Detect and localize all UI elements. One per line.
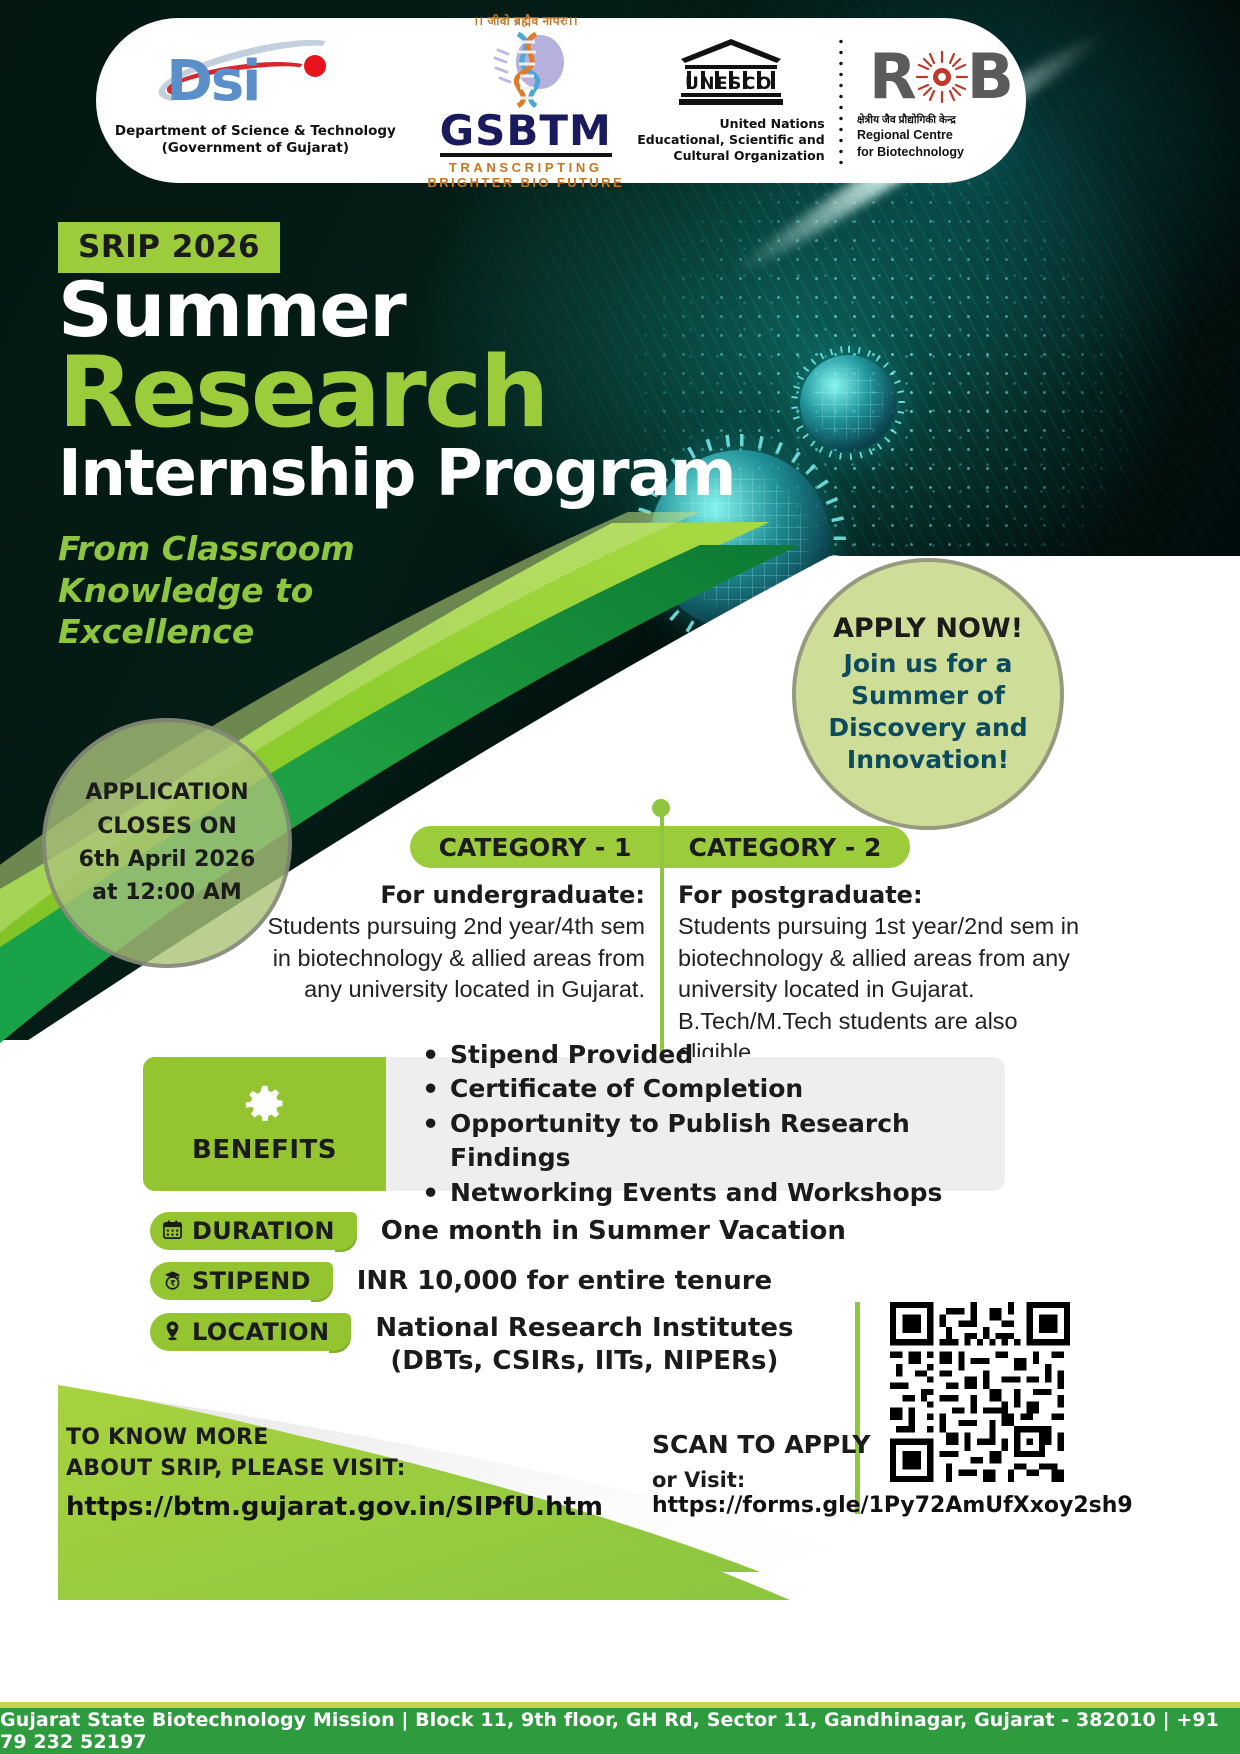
logo-rcb: R B क्षेत्रीय जैव <box>857 41 1026 160</box>
qr-divider <box>855 1302 860 1514</box>
location-label: LOCATION <box>192 1318 329 1346</box>
unesco-temple-icon: UNESCO <box>677 37 785 111</box>
rcb-line2: for Biotechnology <box>857 144 1026 160</box>
gsbtm-tagline-1: TRANSCRIPTING <box>449 160 603 175</box>
unesco-line3: Cultural Organization <box>637 148 824 164</box>
svg-text:₹: ₹ <box>170 1277 176 1287</box>
deadline-line4: at 12:00 AM <box>92 876 242 909</box>
deadline-line3: 6th April 2026 <box>79 843 256 876</box>
category-1-pill-label: CATEGORY - 1 <box>410 833 660 862</box>
benefit-item: Opportunity to Publish Research Findings <box>420 1107 1005 1176</box>
category-1-body: Students pursuing 2nd year/4th sem in bi… <box>245 911 645 1005</box>
benefits-label-panel: BENEFITS <box>143 1057 386 1191</box>
duration-value: One month in Summer Vacation <box>381 1215 846 1248</box>
duration-tag: DURATION <box>150 1212 341 1250</box>
logo-dst: Dsi Department of Science & Technology (… <box>96 45 415 157</box>
deadline-line1: APPLICATION <box>85 776 248 809</box>
rcb-emblem-icon: R B <box>869 41 1014 113</box>
benefits-label: BENEFITS <box>192 1135 337 1165</box>
hero-tagline: From Classroom Knowledge to Excellence <box>58 528 355 653</box>
location-value: National Research Institutes (DBTs, CSIR… <box>375 1312 793 1377</box>
category-1-heading: For undergraduate: <box>245 880 645 911</box>
rcb-line1: Regional Centre <box>857 127 1026 143</box>
apply-now-headline: APPLY NOW! <box>833 613 1023 644</box>
stipend-value: INR 10,000 for entire tenure <box>357 1265 772 1298</box>
apply-now-subline: Join us for a Summer of Discovery and In… <box>828 648 1027 776</box>
location-tag: LOCATION <box>150 1313 335 1351</box>
gsbtm-sanskrit-motto: ।। जीवो ब्रह्मैव नापरः।। <box>473 12 578 29</box>
srip-info-url[interactable]: https://btm.gujarat.gov.in/SIPfU.htm <box>66 1492 603 1522</box>
apply-form-url[interactable]: https://forms.gle/1Py72AmUfXxoy2sh9 <box>652 1493 1133 1518</box>
dna-helix-icon <box>478 30 574 108</box>
scan-to-apply-title: SCAN TO APPLY <box>652 1430 870 1459</box>
benefit-item: Networking Events and Workshops <box>420 1176 1005 1211</box>
category-connector-dot <box>652 799 670 817</box>
gsbtm-wordmark: GSBTM <box>440 110 612 157</box>
benefits-section: BENEFITS Stipend Provided Certificate of… <box>143 1057 1005 1191</box>
rupee-graduation-icon: ₹ <box>162 1269 183 1294</box>
stipend-tag: ₹ STIPEND <box>150 1262 317 1300</box>
benefits-list: Stipend Provided Certificate of Completi… <box>386 1057 1005 1191</box>
know-more-line2: ABOUT SRIP, PLEASE VISIT: <box>66 1456 406 1481</box>
calendar-icon <box>162 1219 183 1244</box>
dst-emblem-icon: Dsi <box>160 45 350 119</box>
gsbtm-tagline-2: BRIGHTER BIO FUTURE <box>427 175 624 190</box>
benefit-item: Stipend Provided <box>420 1038 1005 1073</box>
qr-code[interactable] <box>890 1302 1070 1482</box>
apply-now-callout: APPLY NOW! Join us for a Summer of Disco… <box>792 558 1064 830</box>
logo-divider <box>839 36 843 166</box>
rcb-hindi-name: क्षेत्रीय जैव प्रौद्योगिकी केन्द्र <box>857 113 1026 127</box>
application-deadline-callout: APPLICATION CLOSES ON 6th April 2026 at … <box>42 718 292 968</box>
gear-icon <box>244 1084 286 1133</box>
logo-unesco: UNESCO United Nations Educational, Scien… <box>637 37 825 165</box>
partner-logo-bar: Dsi Department of Science & Technology (… <box>96 18 1026 183</box>
duration-row: DURATION One month in Summer Vacation <box>150 1212 846 1250</box>
category-2-pill-label: CATEGORY - 2 <box>660 833 910 862</box>
unesco-line2: Educational, Scientific and <box>637 132 824 148</box>
dst-subtitle-line1: Department of Science & Technology <box>115 123 396 140</box>
duration-label: DURATION <box>192 1217 335 1245</box>
title-line-internship-program: Internship Program <box>58 442 735 506</box>
know-more-line1: TO KNOW MORE <box>66 1425 268 1450</box>
stipend-row: ₹ STIPEND INR 10,000 for entire tenure <box>150 1262 772 1300</box>
title-line-research: Research <box>58 344 547 442</box>
footer-contact-text: Gujarat State Biotechnology Mission | Bl… <box>0 1709 1240 1753</box>
poster-root: Dsi Department of Science & Technology (… <box>0 0 1240 1754</box>
unesco-line1: United Nations <box>637 116 824 132</box>
logo-gsbtm: ।। जीवो ब्रह्मैव नापरः।। GSBTM TRANSCRIP… <box>415 12 637 190</box>
category-1-block: For undergraduate: Students pursuing 2nd… <box>245 880 645 1006</box>
stipend-label: STIPEND <box>192 1267 311 1295</box>
category-divider-line <box>660 806 664 1058</box>
dst-subtitle-line2: (Government of Gujarat) <box>115 140 396 157</box>
location-row: LOCATION National Research Institutes (D… <box>150 1312 793 1377</box>
rcb-sunburst-icon <box>913 48 971 106</box>
deadline-line2: CLOSES ON <box>97 810 237 843</box>
virus-particle-icon <box>800 355 896 451</box>
benefit-item: Certificate of Completion <box>420 1072 1005 1107</box>
footer-bar: Gujarat State Biotechnology Mission | Bl… <box>0 1708 1240 1754</box>
or-visit-label: or Visit: <box>652 1468 745 1492</box>
category-2-heading: For postgraduate: <box>678 880 1090 911</box>
location-pin-icon <box>162 1320 183 1345</box>
dst-wordmark: Dsi <box>166 45 259 119</box>
